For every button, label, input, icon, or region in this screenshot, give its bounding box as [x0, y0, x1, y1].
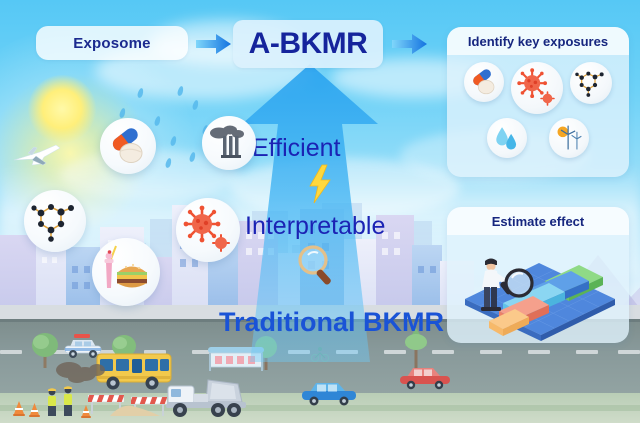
- window: [84, 282, 90, 289]
- label-interpretable: Interpretable: [245, 212, 385, 241]
- lane-marking: [0, 350, 22, 354]
- pills-icon[interactable]: [464, 62, 504, 102]
- arrow-right-icon: [196, 32, 232, 56]
- window: [42, 257, 47, 263]
- exhaust-smoke: [55, 358, 107, 386]
- identify-icon-row: [457, 118, 619, 158]
- lane-marking: [432, 350, 454, 354]
- window: [430, 266, 436, 273]
- figure-canvas: Efficient Interpretable Traditional BKMR: [0, 0, 640, 423]
- dirt-pile: [108, 398, 162, 418]
- blue-car-icon: [300, 378, 358, 408]
- molecule-icon: [24, 190, 86, 252]
- window: [418, 266, 424, 273]
- window: [180, 259, 186, 267]
- virus-icon[interactable]: [511, 62, 563, 114]
- abkmr-title: A-BKMR: [249, 27, 368, 61]
- panel-estimate-header: Estimate effect: [447, 207, 629, 235]
- water-drop-icon[interactable]: [487, 118, 527, 158]
- cement-truck-icon: [164, 374, 254, 420]
- identify-icon-row: [457, 62, 619, 114]
- window: [84, 266, 90, 273]
- road-worker: [44, 387, 60, 417]
- label-traditional-bkmr: Traditional BKMR: [219, 307, 444, 338]
- lane-marking: [528, 350, 550, 354]
- window: [52, 257, 57, 263]
- magnifier-icon: [296, 243, 338, 287]
- window: [394, 248, 400, 255]
- smokestack-icon: [202, 116, 256, 170]
- virus-icon: [176, 198, 240, 262]
- road-worker: [60, 385, 76, 417]
- wind-turbine-icon[interactable]: [549, 118, 589, 158]
- window: [72, 282, 78, 289]
- lightning-bolt-icon: [306, 164, 334, 204]
- red-car-icon: [398, 364, 452, 392]
- lane-marking: [576, 350, 598, 354]
- panel-identify-header: Identify key exposures: [447, 27, 629, 55]
- pills-icon: [100, 118, 156, 174]
- window: [394, 232, 400, 239]
- window: [72, 266, 78, 273]
- label-efficient: Efficient: [252, 134, 340, 163]
- traffic-cone-icon: [28, 402, 41, 417]
- arrow-right-icon: [392, 32, 428, 56]
- traffic-cone-icon: [12, 400, 26, 416]
- isometric-bar-chart: [453, 237, 625, 341]
- panel-identify-title: Identify key exposures: [468, 34, 608, 49]
- molecule-icon[interactable]: [570, 62, 612, 104]
- lane-marking: [618, 350, 640, 354]
- panel-estimate-effect[interactable]: Estimate effect: [447, 207, 629, 343]
- exposome-label-box[interactable]: Exposome: [36, 26, 188, 60]
- identify-icon-grid: [447, 55, 629, 158]
- lane-marking: [480, 350, 502, 354]
- abkmr-title-box[interactable]: A-BKMR: [233, 20, 383, 68]
- exposome-label: Exposome: [73, 35, 150, 52]
- fast-food-icon: [92, 238, 160, 306]
- panel-identify-key-exposures[interactable]: Identify key exposures: [447, 27, 629, 177]
- panel-estimate-title: Estimate effect: [492, 214, 584, 229]
